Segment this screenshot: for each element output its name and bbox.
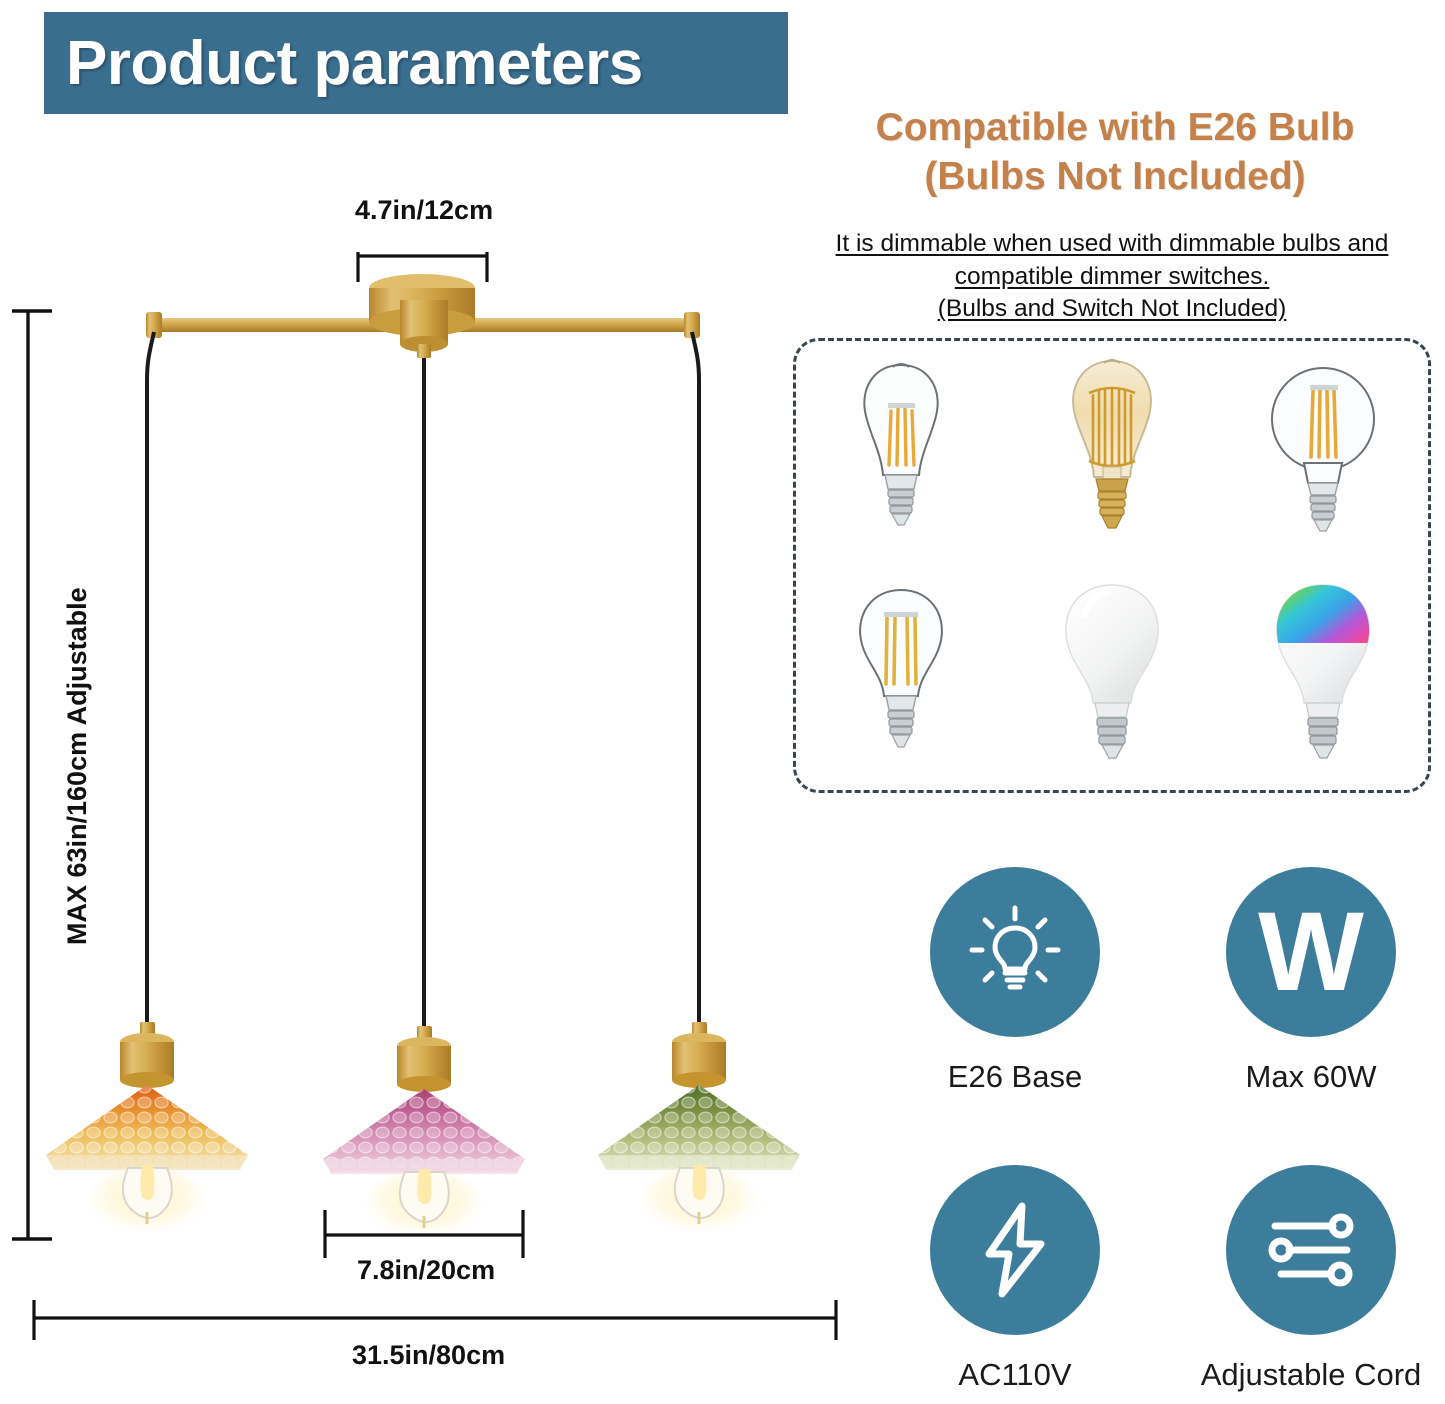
bulb-st64-amber-edison bbox=[1007, 341, 1218, 566]
compatibility-note-line1: It is dimmable when used with dimmable b… bbox=[836, 230, 1389, 257]
compatibility-heading: Compatible with E26 Bulb (Bulbs Not Incl… bbox=[800, 104, 1430, 202]
pendant-pink bbox=[323, 1026, 525, 1238]
compatibility-note-line3: (Bulbs and Switch Not Included) bbox=[938, 295, 1287, 322]
feature-label: Adjustable Cord bbox=[1201, 1357, 1422, 1393]
compatibility-heading-line1: Compatible with E26 Bulb bbox=[800, 104, 1430, 153]
bulb-g25-globe-filament bbox=[1217, 341, 1428, 566]
compatibility-note-line2: compatible dimmer switches. bbox=[955, 263, 1270, 290]
feature-adjustable-cord: Adjustable Cord bbox=[1186, 1165, 1436, 1393]
dimension-label-drop-height: MAX 63in/160cm Adjustable bbox=[62, 587, 93, 945]
watt-w-icon: W bbox=[1226, 867, 1396, 1037]
lightbulb-rays-icon bbox=[930, 867, 1100, 1037]
ceiling-canopy bbox=[369, 274, 475, 358]
feature-max-60w: W Max 60W bbox=[1186, 867, 1436, 1095]
feature-label: AC110V bbox=[958, 1357, 1071, 1393]
power-cords bbox=[147, 332, 699, 1032]
dimension-label-shade-width: 7.8in/20cm bbox=[357, 1255, 495, 1286]
pendant-amber bbox=[46, 1022, 248, 1234]
watt-glyph: W bbox=[1258, 896, 1364, 1008]
feature-ac110v: AC110V bbox=[890, 1165, 1140, 1393]
dimension-drop-height-line bbox=[12, 310, 52, 1240]
sliders-icon bbox=[1226, 1165, 1396, 1335]
bulb-a19-rgb-smart bbox=[1217, 566, 1428, 791]
lightning-bolt-icon bbox=[930, 1165, 1100, 1335]
dimension-total-width-line bbox=[34, 1300, 836, 1340]
feature-e26-base: E26 Base bbox=[890, 867, 1140, 1095]
feature-label: E26 Base bbox=[948, 1059, 1082, 1095]
compatibility-note: It is dimmable when used with dimmable b… bbox=[786, 228, 1438, 326]
dimension-label-total-width: 31.5in/80cm bbox=[352, 1340, 505, 1371]
product-parameters-infographic: Product parameters Compatible with E26 B… bbox=[0, 0, 1445, 1404]
compatible-bulbs-panel bbox=[793, 338, 1431, 793]
dimension-label-canopy-width: 4.7in/12cm bbox=[355, 195, 493, 226]
compatibility-heading-line2: (Bulbs Not Included) bbox=[800, 153, 1430, 202]
pendant-green bbox=[598, 1022, 800, 1234]
bulb-a19-frosted-led bbox=[1007, 566, 1218, 791]
feature-label: Max 60W bbox=[1246, 1059, 1377, 1095]
